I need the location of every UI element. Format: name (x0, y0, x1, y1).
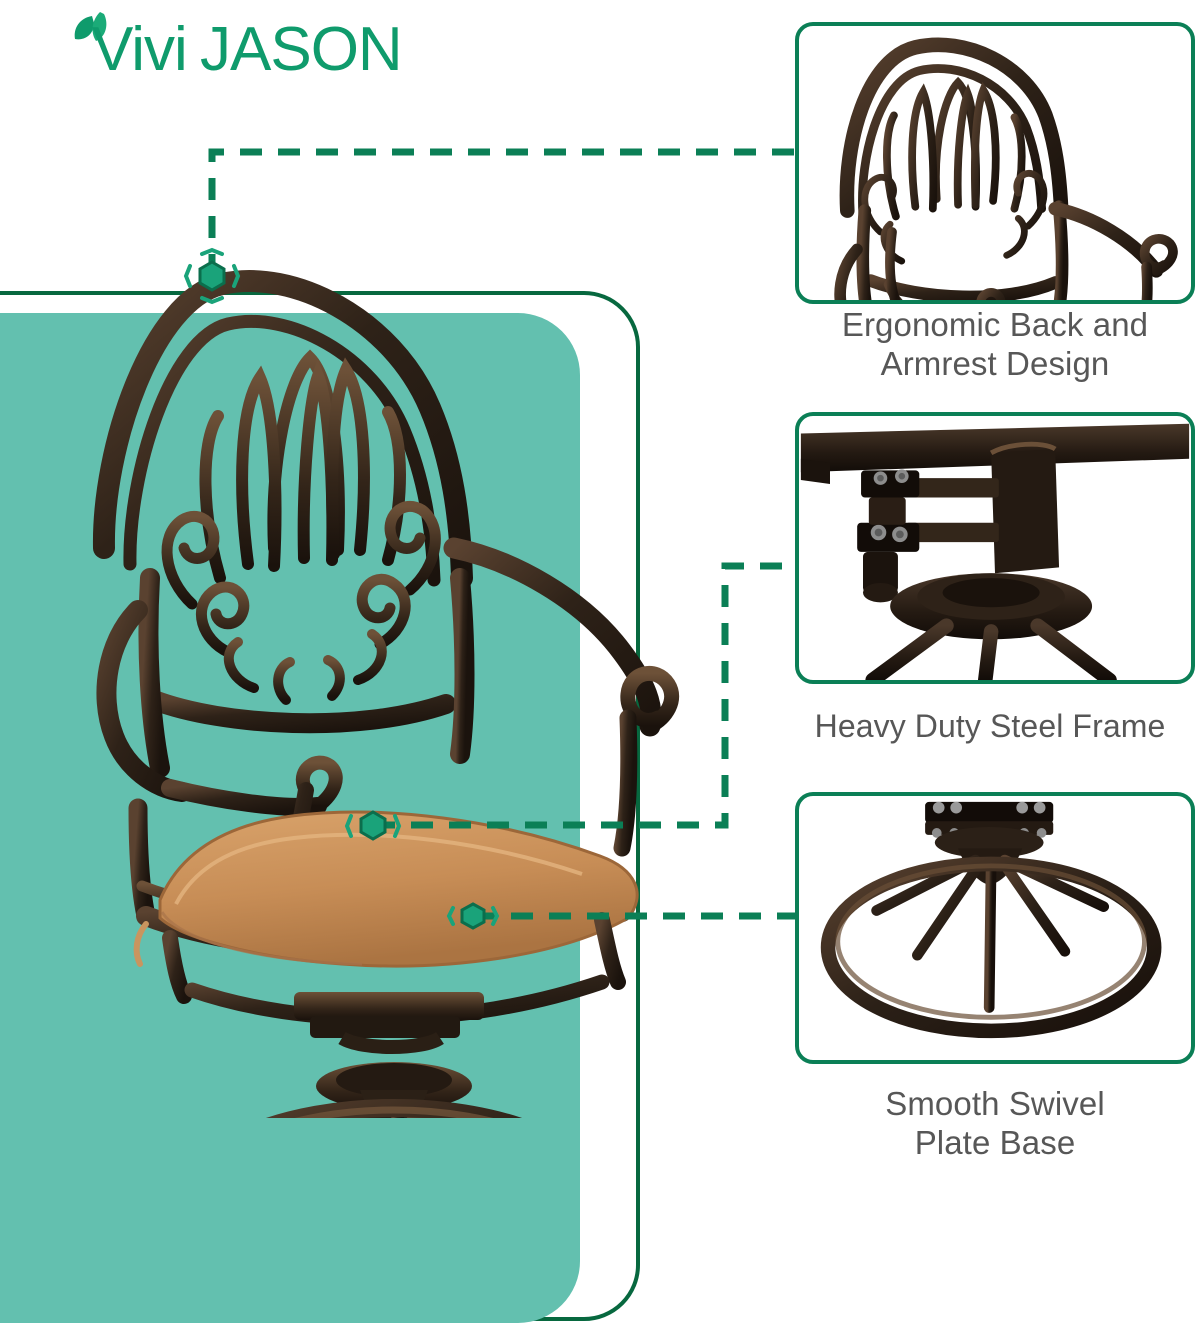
callout-image-swivel-base (795, 792, 1195, 1064)
svg-text:JASON: JASON (200, 15, 402, 84)
infographic-canvas: Vivi JASON (0, 0, 1200, 1200)
svg-text:Vivi: Vivi (92, 15, 187, 84)
caption-ergonomic-back: Ergonomic Back and Armrest Design (795, 306, 1195, 383)
hero-chair-image (42, 248, 702, 1118)
callout-steel-frame[interactable] (795, 412, 1195, 684)
caption-swivel-base: Smooth Swivel Plate Base (795, 1085, 1195, 1162)
caption-steel-frame: Heavy Duty Steel Frame (780, 708, 1200, 745)
brand-logo: Vivi JASON (56, 8, 436, 84)
callout-ergonomic-back[interactable] (795, 22, 1195, 304)
callout-image-steel-frame (795, 412, 1195, 684)
callout-image-back-armrest (795, 22, 1195, 304)
callout-swivel-base[interactable] (795, 792, 1195, 1064)
